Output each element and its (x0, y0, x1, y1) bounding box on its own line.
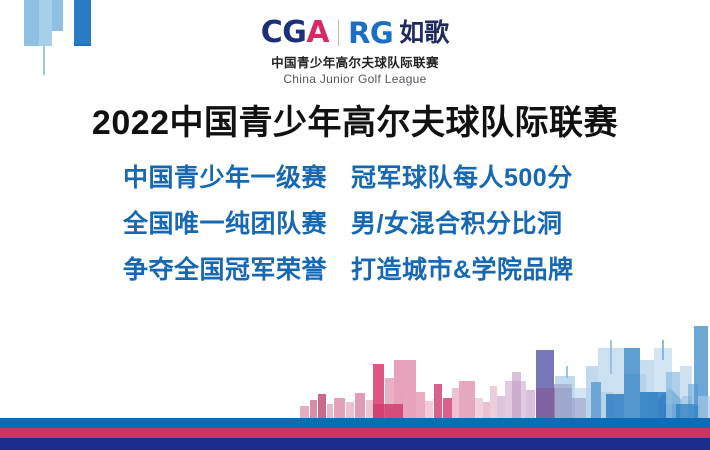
band-pink (0, 428, 710, 438)
band-navy (0, 438, 710, 450)
cga-wordmark: CGA (261, 18, 329, 48)
feature-left-text: 争夺全国冠军荣誉 (123, 250, 351, 286)
poster-canvas: CGA RG 如歌 中国青少年高尔夫球队际联赛 China Junior Gol… (0, 0, 710, 450)
logo-subtitle-chinese: 中国青少年高尔夫球队际联赛 (271, 52, 439, 71)
cga-wordmark-accent: A (306, 15, 329, 50)
page-title: 2022中国青少年高尔夫球队际联赛 (0, 95, 710, 144)
band-blue (0, 418, 710, 428)
rg-wordmark-chinese: 如歌 (399, 19, 449, 48)
feature-row: 全国唯一纯团队赛 男/女混合积分比洞 (123, 204, 587, 250)
feature-right-text: 打造城市&学院品牌 (351, 250, 587, 286)
feature-right-text: 男/女混合积分比洞 (351, 204, 587, 240)
logo-wordmark-row: CGA RG 如歌 (261, 18, 450, 48)
feature-right-text: 冠军球队每人500分 (351, 158, 587, 194)
rg-wordmark: RG (348, 19, 393, 48)
brand-logo: CGA RG 如歌 中国青少年高尔夫球队际联赛 China Junior Gol… (0, 18, 710, 86)
bottom-color-bands (0, 418, 710, 450)
feature-left-text: 中国青少年一级赛 (123, 158, 351, 194)
feature-left-text: 全国唯一纯团队赛 (123, 204, 351, 240)
logo-divider (338, 20, 339, 46)
cga-wordmark-main: CG (261, 15, 307, 50)
logo-subtitle-english: China Junior Golf League (283, 72, 426, 86)
feature-row: 中国青少年一级赛 冠军球队每人500分 (123, 158, 587, 204)
feature-list: 中国青少年一级赛 冠军球队每人500分 全国唯一纯团队赛 男/女混合积分比洞 争… (0, 158, 710, 296)
city-skyline-icon-right (0, 288, 710, 418)
